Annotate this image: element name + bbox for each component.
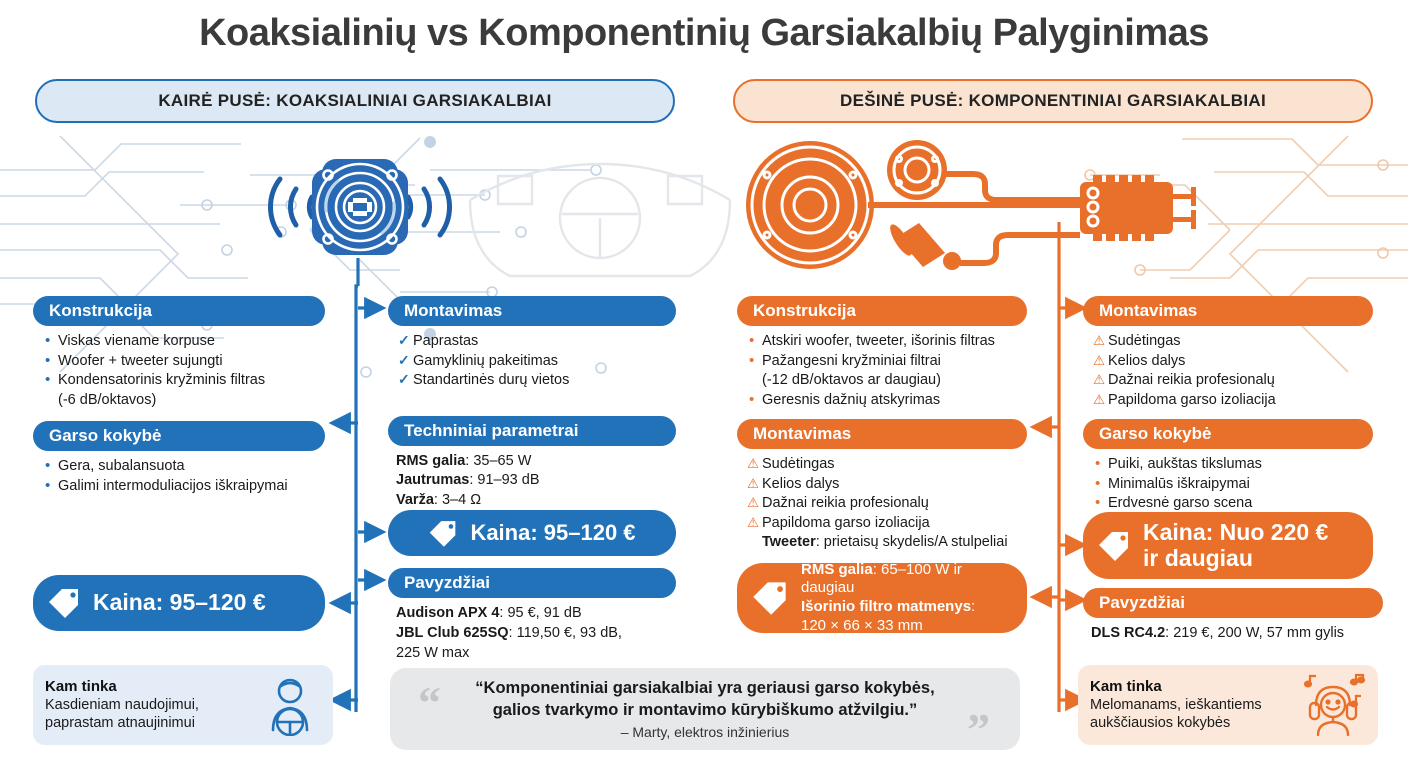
list-item: Dažnai reikia profesionalų [747, 494, 1023, 513]
whofor-left-title: Kam tinka [45, 678, 259, 695]
list-item: Kondensatorinis kryžminis filtras [43, 371, 321, 390]
price-line-two: ir daugiau [1143, 546, 1328, 572]
list-item-continuation: (-12 dB/oktavos ar daugiau) [747, 371, 1023, 390]
headphones-listener-icon [1300, 673, 1366, 737]
example-row: DLS RC4.2: 219 €, 200 W, 57 mm gylis [1091, 624, 1381, 643]
list-montavimas-left: Paprastas Gamyklinių pakeitimas Standart… [388, 326, 676, 390]
whofor-left-body: Kasdieniam naudojimui, paprastam atnauji… [45, 696, 259, 732]
tweeter-icon [887, 140, 947, 200]
list-item: Puiki, aukštas tikslumas [1093, 455, 1369, 474]
tweeter-key: Tweeter [762, 534, 816, 550]
example-value: 119,50 €, 93 dB, [517, 625, 622, 641]
heading-montavimas-right-col2: Montavimas [1083, 296, 1373, 326]
header-left-coaxial: KAIRĖ PUSĖ: KOAKSIALINIAI GARSIAKALBIAI [35, 79, 675, 123]
list-item: Erdvesnė garso scena [1093, 494, 1369, 513]
list-montavimas-right-col2: Sudėtingas Kelios dalys Dažnai reikia pr… [1083, 326, 1373, 409]
specs-value: : [971, 598, 975, 615]
whofor-right: Kam tinka Melomanams, ieškantiems aukšči… [1078, 665, 1378, 745]
heading-montavimas-right-col1: Montavimas [737, 419, 1027, 449]
quote-box: “ “Komponentiniai garsiakalbiai yra geri… [390, 668, 1020, 750]
list-item: Minimalūs iškraipymai [1093, 475, 1369, 494]
specs-key: Išorinio filtro matmenys [801, 598, 971, 615]
spec-value: 35–65 W [473, 453, 531, 469]
spec-key: Varža [396, 492, 434, 508]
example-value: 95 €, 91 dB [507, 605, 581, 621]
block-left-garso-kokybe: Garso kokybė Gera, subalansuota Galimi i… [33, 421, 325, 495]
list-item: Gera, subalansuota [43, 457, 321, 476]
list-item: Geresnis dažnių atskyrimas [747, 391, 1023, 410]
block-montavimas-left: Montavimas Paprastas Gamyklinių pakeitim… [388, 296, 676, 390]
whofor-right-body: Melomanams, ieškantiems aukščiausios kok… [1090, 696, 1300, 732]
example-value: : 219 €, 200 W, 57 mm gylis [1165, 625, 1344, 641]
price-banner-left-coaxial: Kaina: 95–120 € [33, 575, 325, 631]
list-montavimas-right-col1: Sudėtingas Kelios dalys Dažnai reikia pr… [737, 449, 1027, 552]
spec-row: Jautrumas: 91–93 dB [396, 471, 674, 490]
block-pavyzdziai-left: Pavyzdžiai Audison APX 4: 95 €, 91 dB JB… [388, 568, 676, 664]
component-speaker-set-icon [745, 137, 1215, 277]
block-pavyzdziai-right: Pavyzdžiai DLS RC4.2: 219 €, 200 W, 57 m… [1083, 588, 1383, 644]
list-item-continuation: (-6 dB/oktavos) [43, 391, 321, 410]
quote-author: – Marty, elektros inžinierius [475, 724, 934, 740]
coaxial-speaker-icon [250, 137, 470, 277]
heading-garso-kokybe-right: Garso kokybė [1083, 419, 1373, 449]
heading-pavyzdziai-left: Pavyzdžiai [388, 568, 676, 598]
price-tag-icon [751, 581, 789, 615]
list-garso-kokybe-left: Gera, subalansuota Galimi intermoduliaci… [33, 451, 325, 495]
list-item: Sudėtingas [747, 455, 1023, 474]
price-tag-icon [1097, 531, 1131, 561]
example-row: Audison APX 4: 95 €, 91 dB [396, 604, 674, 623]
block-garso-kokybe-right: Garso kokybė Puiki, aukštas tikslumas Mi… [1083, 419, 1373, 513]
price-label-left-col2: Kaina: 95–120 € [470, 521, 635, 546]
list-item: Viskas viename korpuse [43, 332, 321, 351]
price-line-one: Kaina: Nuo 220 € [1143, 520, 1328, 546]
example-key: DLS RC4.2 [1091, 625, 1165, 641]
example-key: JBL Club 625SQ [396, 625, 509, 641]
specs-key: RMS galia [801, 561, 873, 578]
list-item: Sudėtingas [1093, 332, 1369, 351]
spec-value: 91–93 dB [477, 472, 539, 488]
price-banner-left-col2: Kaina: 95–120 € [388, 510, 676, 556]
spec-row: Varža: 3–4 Ω [396, 491, 674, 510]
price-banner-right: Kaina: Nuo 220 € ir daugiau [1083, 512, 1373, 579]
spec-value: 3–4 Ω [442, 492, 481, 508]
list-item: Atskiri woofer, tweeter, išorinis filtra… [747, 332, 1023, 351]
list-item: Galimi intermoduliacijos iškraipymai [43, 477, 321, 496]
price-label-left: Kaina: 95–120 € [93, 590, 266, 616]
list-item: Woofer + tweeter sujungti [43, 352, 321, 371]
whofor-right-title: Kam tinka [1090, 678, 1300, 695]
tweeter-value: : prietaisų skydelis/A stulpeliai [816, 534, 1008, 550]
examples-left: Audison APX 4: 95 €, 91 dB JBL Club 625S… [388, 598, 676, 663]
list-item-tweeter: Tweeter: prietaisų skydelis/A stulpeliai [747, 533, 1023, 552]
infographic-root: Koaksialinių vs Komponentinių Garsiakalb… [0, 0, 1408, 768]
list-konstrukcija-left: Viskas viename korpuse Woofer + tweeter … [33, 326, 325, 409]
specs-row-continuation: 120 × 66 × 33 mm [801, 617, 1013, 636]
page-title: Koaksialinių vs Komponentinių Garsiakalb… [0, 12, 1408, 55]
list-konstrukcija-right: Atskiri woofer, tweeter, išorinis filtra… [737, 326, 1027, 409]
header-right-component: DEŠINĖ PUSĖ: KOMPONENTINIAI GARSIAKALBIA… [733, 79, 1373, 123]
specs-techniniai-left: RMS galia: 35–65 W Jautrumas: 91–93 dB V… [388, 446, 676, 511]
heading-pavyzdziai-right: Pavyzdžiai [1083, 588, 1383, 618]
left-column-two: Montavimas Paprastas Gamyklinių pakeitim… [388, 296, 676, 520]
list-item: Gamyklinių pakeitimas [398, 352, 672, 371]
quote-close-mark: ” [967, 703, 990, 756]
heading-konstrukcija-left: Konstrukcija [33, 296, 325, 326]
example-key: Audison APX 4 [396, 605, 499, 621]
list-item: Kelios dalys [1093, 352, 1369, 371]
left-column-one: Konstrukcija Viskas viename korpuse Woof… [33, 296, 325, 505]
quote-text: “Komponentiniai garsiakalbiai yra geriau… [475, 678, 934, 722]
heading-konstrukcija-right: Konstrukcija [737, 296, 1027, 326]
whofor-left: Kam tinka Kasdieniam naudojimui, paprast… [33, 665, 333, 745]
block-techniniai-left: Techniniai parametrai RMS galia: 35–65 W… [388, 416, 676, 511]
list-garso-kokybe-right: Puiki, aukštas tikslumas Minimalūs iškra… [1083, 449, 1373, 513]
right-column-one: Konstrukcija Atskiri woofer, tweeter, iš… [737, 296, 1027, 562]
list-item: Papildoma garso izoliacija [747, 514, 1023, 533]
price-label-right: Kaina: Nuo 220 € ir daugiau [1143, 520, 1328, 572]
right-column-two: Montavimas Sudėtingas Kelios dalys Dažna… [1083, 296, 1373, 523]
example-value: 225 W max [396, 645, 469, 661]
specs-row: RMS galia: 65–100 W ir daugiau [801, 561, 1013, 599]
list-item: Dažnai reikia profesionalų [1093, 371, 1369, 390]
specs-banner-right: RMS galia: 65–100 W ir daugiau Išorinio … [737, 563, 1027, 633]
driver-icon [259, 674, 321, 736]
specs-banner-text: RMS galia: 65–100 W ir daugiau Išorinio … [801, 561, 1013, 636]
block-montavimas-right-col2: Montavimas Sudėtingas Kelios dalys Dažna… [1083, 296, 1373, 409]
quote-open-mark: “ [418, 676, 441, 729]
example-row: JBL Club 625SQ: 119,50 €, 93 dB, [396, 624, 674, 643]
examples-right: DLS RC4.2: 219 €, 200 W, 57 mm gylis [1083, 618, 1383, 643]
spec-key: Jautrumas [396, 472, 469, 488]
list-item: Kelios dalys [747, 475, 1023, 494]
list-item: Papildoma garso izoliacija [1093, 391, 1369, 410]
list-item: Paprastas [398, 332, 672, 351]
spec-key: RMS galia [396, 453, 465, 469]
heading-montavimas-left: Montavimas [388, 296, 676, 326]
spec-row: RMS galia: 35–65 W [396, 452, 674, 471]
price-tag-icon [47, 588, 81, 618]
heading-garso-kokybe-left: Garso kokybė [33, 421, 325, 451]
heading-techniniai-left: Techniniai parametrai [388, 416, 676, 446]
block-left-konstrukcija: Konstrukcija Viskas viename korpuse Woof… [33, 296, 325, 409]
list-item: Standartinės durų vietos [398, 371, 672, 390]
list-item: Pažangesni kryžminiai filtrai [747, 352, 1023, 371]
price-tag-icon [428, 520, 458, 547]
specs-row: Išorinio filtro matmenys: [801, 598, 1013, 617]
block-montavimas-right-col1: Montavimas Sudėtingas Kelios dalys Dažna… [737, 419, 1027, 552]
block-konstrukcija-right: Konstrukcija Atskiri woofer, tweeter, iš… [737, 296, 1027, 409]
example-row-continuation: 225 W max [396, 644, 674, 663]
